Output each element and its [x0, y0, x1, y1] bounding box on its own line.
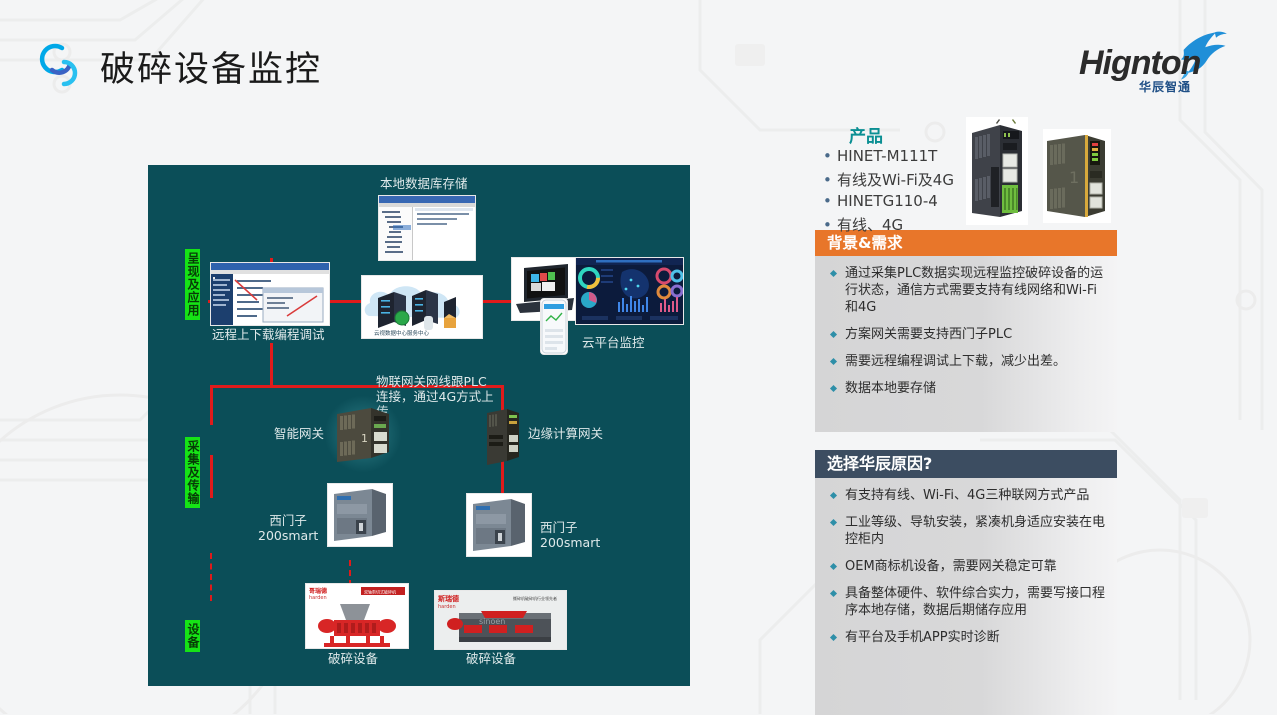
cloud-dashboard-image	[575, 257, 684, 325]
vlabel-acquisition: 采集及传输	[185, 437, 200, 508]
svg-text:撕碎机破碎机行业领先者: 撕碎机破碎机行业领先者	[513, 595, 557, 601]
svg-text:1: 1	[361, 432, 368, 445]
reason-section-body: 有支持有线、Wi-Fi、4G三种联网方式产品 工业等级、导轨安装，紧凑机身适应安…	[815, 478, 1117, 715]
label-remote-programming: 远程上下载编程调试	[212, 327, 325, 342]
vlabel-equipment: 设备	[185, 620, 200, 652]
edge-gateway-image	[483, 405, 523, 467]
label-smart-gateway: 智能网关	[274, 426, 324, 441]
architecture-diagram: 呈现及应用 采集及传输 设备 本地数据库存储	[148, 165, 690, 686]
product-title: 产品	[849, 122, 883, 147]
brand-sub-wordmark: 华辰智通	[1139, 78, 1191, 95]
wire-smartgw-to-plc	[210, 455, 213, 498]
label-edge-gateway: 边缘计算网关	[528, 426, 603, 441]
hinetg110-4-device-image: 1	[1043, 129, 1111, 223]
svg-text:1: 1	[1069, 168, 1079, 187]
hinet-m111t-device-image	[966, 117, 1028, 225]
svg-text:harden: harden	[309, 595, 327, 601]
cloud-datacenter-image: 云视数据中心服务中心	[361, 275, 483, 339]
product-block: 产品 •HINET-M111T •有线及Wi-Fi及4G •HINETG110-…	[815, 112, 1117, 230]
label-cloud-platform-monitor: 云平台监控	[582, 335, 645, 350]
vlabel-presentation: 呈现及应用	[185, 249, 200, 320]
bullet-dot-icon: •	[823, 192, 837, 210]
product-item-2: •HINETG110-4	[823, 192, 938, 210]
brand-logo: Hignton 华辰智通	[1079, 24, 1239, 98]
reason-bullet-3: 具备整体硬件、软件综合实力，需要写接口程序本地存储，数据后期储存应用	[823, 585, 1107, 619]
product-item-3: •有线、4G	[823, 214, 903, 235]
plc-right-image	[466, 493, 532, 557]
background-bullet-2: 需要远程编程调试上下载，减少出差。	[823, 353, 1107, 370]
product-item-1: •有线及Wi-Fi及4G	[823, 169, 954, 190]
crusher-left-image: 哥瑞德 harden 双轴剪切式破碎机	[305, 583, 409, 649]
label-local-database: 本地数据库存储	[380, 176, 468, 191]
bullet-dot-icon: •	[823, 171, 837, 189]
bullet-dot-icon: •	[823, 216, 837, 234]
product-item-0: •HINET-M111T	[823, 147, 937, 165]
bullet-dot-icon: •	[823, 147, 837, 165]
page-header: 破碎设备监控 Hignton 华辰智通	[0, 0, 1277, 118]
reason-section: 选择华辰原因? 有支持有线、Wi-Fi、4G三种联网方式产品 工业等级、导轨安装…	[815, 450, 1117, 715]
svg-text:斯瑞德: 斯瑞德	[438, 594, 459, 603]
background-section-body: 通过采集PLC数据实现远程监控破碎设备的运行状态，通信方式需要支持有线网络和Wi…	[815, 256, 1117, 432]
svg-text:哥瑞德: 哥瑞德	[309, 587, 327, 595]
wire-cloud-down	[270, 343, 273, 387]
right-info-column: 产品 •HINET-M111T •有线及Wi-Fi及4G •HINETG110-…	[815, 112, 1117, 715]
svg-text:云视数据中心服务中心: 云视数据中心服务中心	[374, 329, 430, 337]
smart-gateway-image: 1	[331, 402, 395, 466]
background-section: 背景&需求 通过采集PLC数据实现远程监控破碎设备的运行状态，通信方式需要支持有…	[815, 230, 1117, 432]
background-bullet-1: 方案网关需要支持西门子PLC	[823, 326, 1107, 343]
hignton-loop-icon	[36, 40, 88, 92]
reason-bullet-2: OEM商标机设备，需要网关稳定可靠	[823, 558, 1107, 575]
svg-text:harden: harden	[438, 604, 456, 610]
label-crusher-right: 破碎设备	[466, 651, 516, 666]
svg-text:双轴剪切式破碎机: 双轴剪切式破碎机	[364, 589, 396, 595]
background-bullet-0: 通过采集PLC数据实现远程监控破碎设备的运行状态，通信方式需要支持有线网络和Wi…	[823, 265, 1107, 316]
reason-section-heading: 选择华辰原因?	[815, 450, 1117, 478]
crusher-right-image: 斯瑞德 harden 撕碎机破碎机行业领先者 sinoen	[434, 590, 567, 650]
label-plc-left: 西门子 200smart	[258, 513, 318, 543]
label-plc-right: 西门子 200smart	[540, 520, 600, 550]
plc-left-image	[327, 483, 393, 547]
reason-bullet-4: 有平台及手机APP实时诊断	[823, 629, 1107, 646]
section-gap	[815, 432, 1117, 450]
label-crusher-left: 破碎设备	[328, 651, 378, 666]
background-bullet-3: 数据本地要存储	[823, 380, 1107, 397]
local-database-screenshot	[378, 195, 476, 261]
cloud-service-center-image	[213, 277, 215, 279]
dash-plc-to-crusher-left	[210, 553, 212, 601]
cloud-monitor-phone-image	[540, 298, 568, 355]
wire-bus-to-smart-gw	[210, 385, 213, 425]
reason-bullet-1: 工业等级、导轨安装，紧凑机身适应安装在电控柜内	[823, 514, 1107, 548]
remote-programming-screenshot	[210, 262, 330, 326]
page-title: 破碎设备监控	[100, 41, 322, 92]
reason-bullet-0: 有支持有线、Wi-Fi、4G三种联网方式产品	[823, 487, 1107, 504]
svg-text:sinoen: sinoen	[479, 617, 505, 626]
